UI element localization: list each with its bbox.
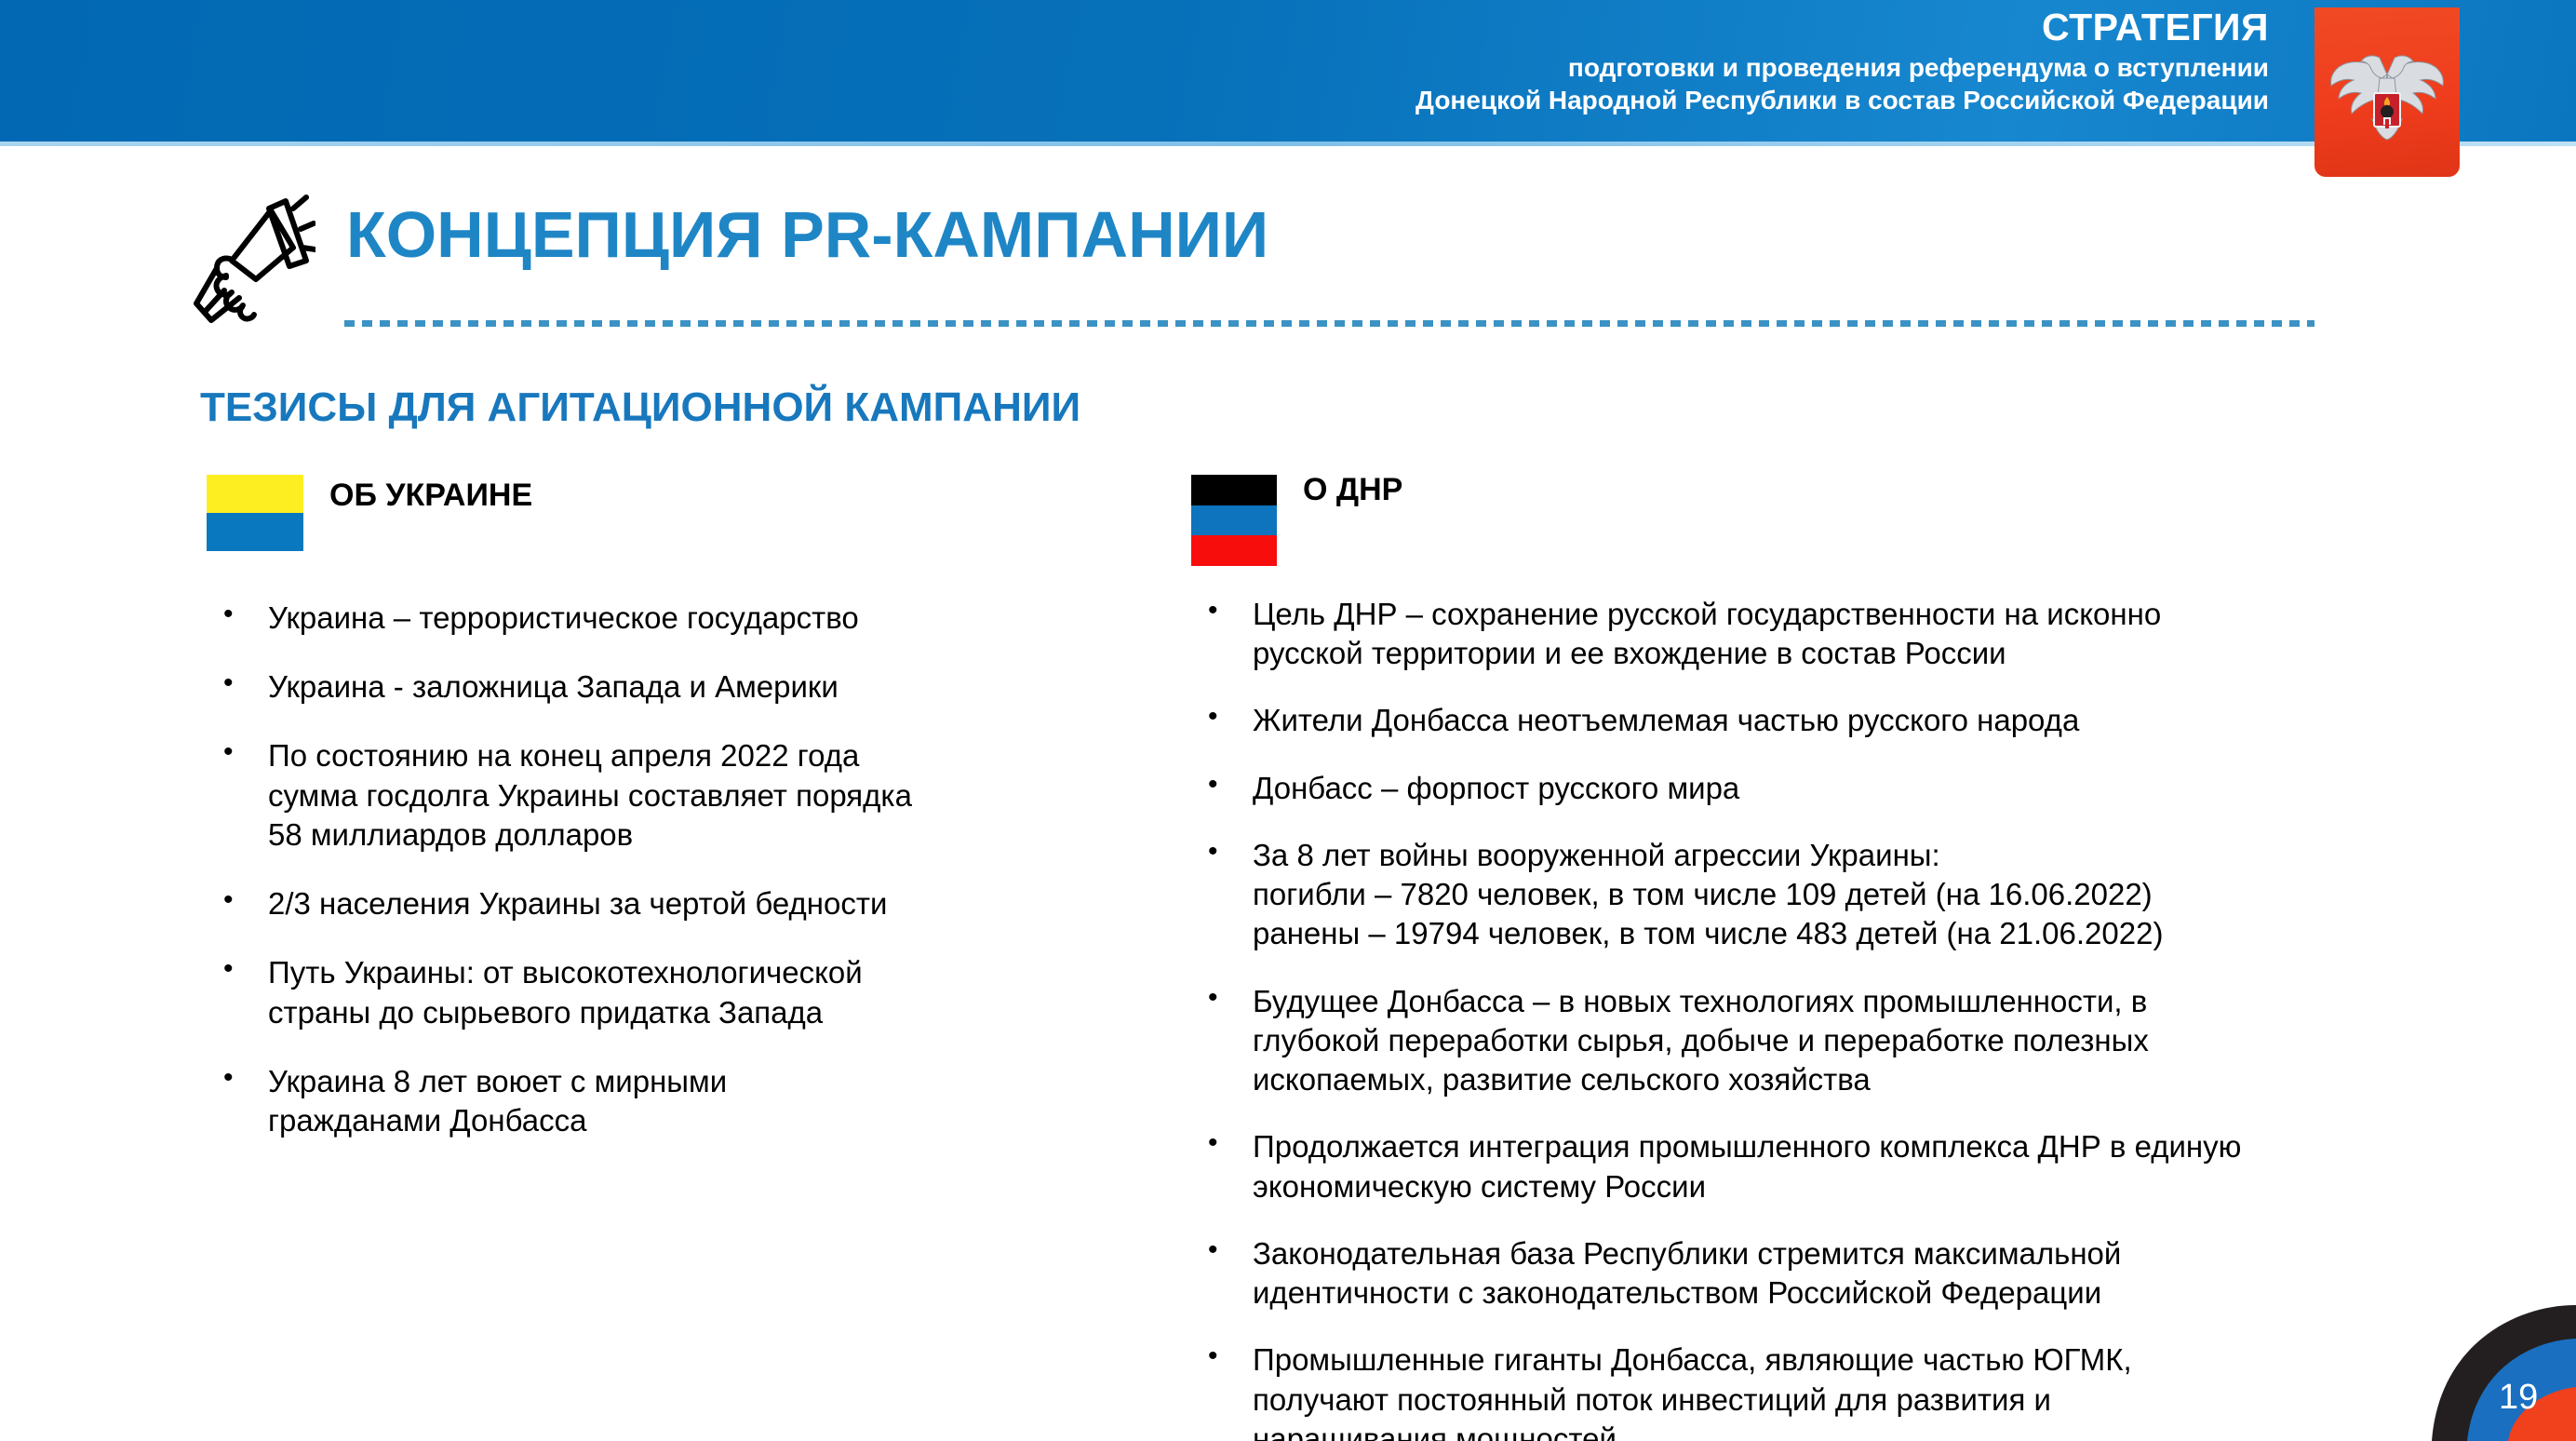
megaphone-icon [189,194,315,326]
bullet-line: глубокой переработки сырья, добыче и пер… [1253,1021,2401,1060]
bullet-line: русской территории и ее вхождение в сост… [1253,634,2401,673]
header-subtitle-line-1: подготовки и проведения референдума о вс… [687,51,2269,84]
list-item: Цель ДНР – сохранение русской государств… [1191,595,2401,673]
bullet-line: погибли – 7820 человек, в том числе 109 … [1253,875,2401,914]
bullet-line: Донбасс – форпост русского мира [1253,769,2401,808]
list-item: Жители Донбасса неотъемлемая частью русс… [1191,701,2401,740]
bullet-line: ископаемых, развитие сельского хозяйства [1253,1060,2401,1099]
bullet-list-ukraine: Украина – террористическое государство У… [207,599,1147,1140]
column-header-dnr: О ДНР [1191,470,2401,567]
bullet-line: идентичности с законодательством Российс… [1253,1273,2401,1313]
bullet-line: Законодательная база Республики стремитс… [1253,1234,2401,1273]
list-item: По состоянию на конец апреля 2022 года с… [207,736,1147,855]
bullet-line: По состоянию на конец апреля 2022 года [268,736,1147,775]
bullet-list-dnr: Цель ДНР – сохранение русской государств… [1191,595,2401,1441]
bullet-line: получают постоянный поток инвестиций для… [1253,1380,2401,1420]
bullet-line: экономическую систему России [1253,1167,2401,1206]
list-item: Законодательная база Республики стремитс… [1191,1234,2401,1313]
list-item: Путь Украины: от высокотехнологической с… [207,953,1147,1031]
list-item: Донбасс – форпост русского мира [1191,769,2401,808]
header-title: СТРАТЕГИЯ [687,7,2269,47]
column-title-ukraine: ОБ УКРАИНЕ [329,478,532,514]
bullet-line: наращивания мощностей [1253,1420,2401,1441]
bullet-line: страны до сырьевого придатка Запада [268,993,1147,1032]
column-header-ukraine: ОБ УКРАИНЕ [207,470,1147,567]
slide: СТРАТЕГИЯ подготовки и проведения рефере… [0,0,2576,1441]
list-item: Продолжается интеграция промышленного ко… [1191,1127,2401,1205]
header-text-block: СТРАТЕГИЯ подготовки и проведения рефере… [687,7,2269,117]
page-number: 19 [2499,1378,2538,1418]
bullet-line: 58 миллиардов долларов [268,815,1147,855]
bullet-line: Цель ДНР – сохранение русской государств… [1253,595,2401,634]
bullet-line: Украина 8 лет воюет с мирными [268,1062,1147,1101]
bullet-line: Продолжается интеграция промышленного ко… [1253,1127,2401,1166]
list-item: Украина – террористическое государство [207,599,1147,638]
column-ukraine: ОБ УКРАИНЕ Украина – террористическое го… [207,470,1147,1170]
page-title: КОНЦЕПЦИЯ PR-КАМПАНИИ [346,197,1268,272]
list-item: Украина 8 лет воюет с мирными гражданами… [207,1062,1147,1140]
list-item: Промышленные гиганты Донбасса, являющие … [1191,1340,2401,1441]
bullet-line: Будущее Донбасса – в новых технологиях п… [1253,982,2401,1021]
column-title-dnr: О ДНР [1303,472,1402,508]
bullet-line: гражданами Донбасса [268,1101,1147,1140]
bullet-line: Жители Донбасса неотъемлемая частью русс… [1253,701,2401,740]
list-item: Украина - заложница Запада и Америки [207,667,1147,707]
bullet-line: 2/3 населения Украины за чертой бедности [268,884,1147,923]
header-subtitle-line-2: Донецкой Народной Республики в состав Ро… [687,84,2269,116]
bullet-line: Украина – террористическое государство [268,599,1147,638]
bullet-line: Промышленные гиганты Донбасса, являющие … [1253,1340,2401,1380]
bullet-line: Украина - заложница Запада и Америки [268,667,1147,707]
header-underline [0,141,2576,146]
list-item: Будущее Донбасса – в новых технологиях п… [1191,982,2401,1100]
bullet-line: Путь Украины: от высокотехнологической [268,953,1147,992]
title-divider [344,320,2314,327]
list-item: За 8 лет войны вооруженной агрессии Укра… [1191,836,2401,954]
dnr-flag-icon [1191,475,1277,566]
bullet-line: ранены – 19794 человек, в том числе 483 … [1253,914,2401,953]
bullet-line: За 8 лет войны вооруженной агрессии Укра… [1253,836,2401,875]
dnr-coat-of-arms-icon [2314,7,2460,177]
page-number-badge: 19 [2404,1305,2576,1441]
section-heading: ТЕЗИСЫ ДЛЯ АГИТАЦИОННОЙ КАМПАНИИ [200,384,1080,431]
bullet-line: сумма госдолга Украины составляет порядк… [268,776,1147,815]
ukraine-flag-icon [207,475,303,551]
list-item: 2/3 населения Украины за чертой бедности [207,884,1147,923]
column-dnr: О ДНР Цель ДНР – сохранение русской госу… [1191,470,2401,1441]
